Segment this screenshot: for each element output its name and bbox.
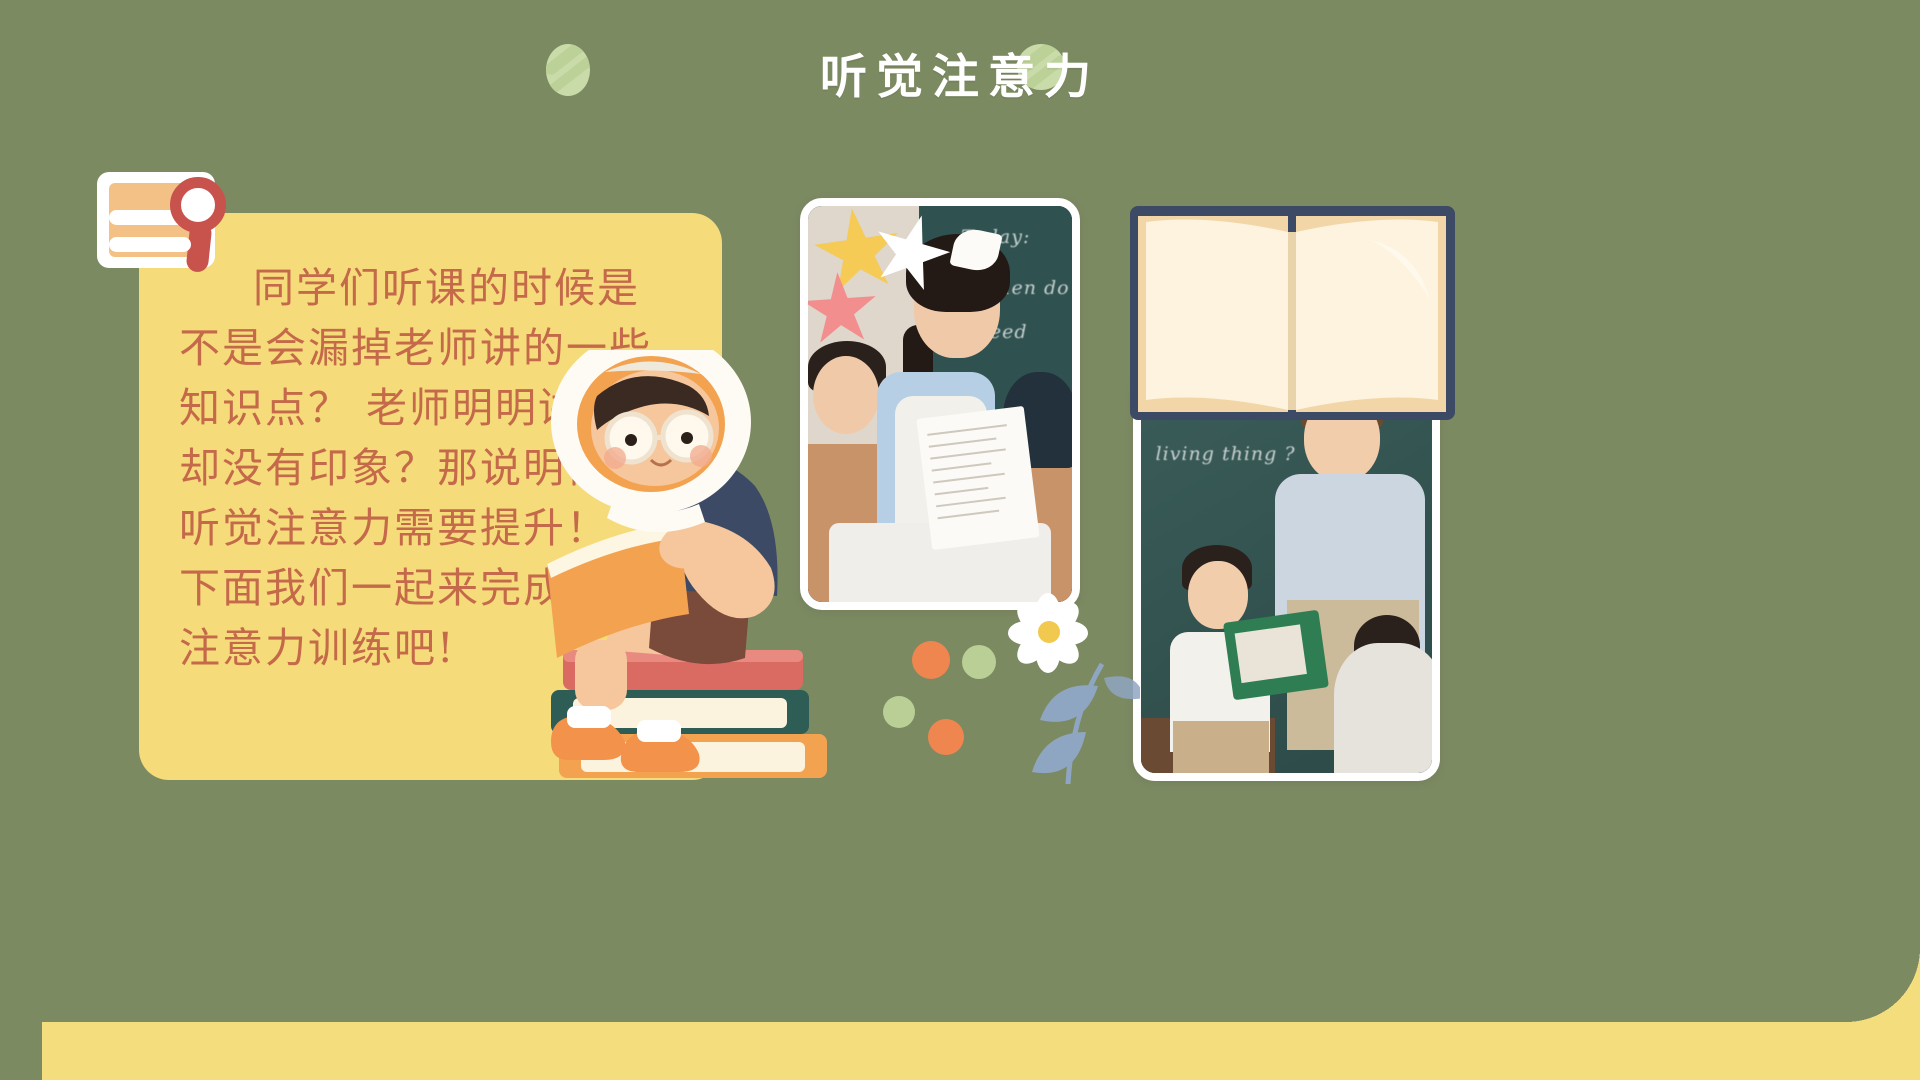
photo-textbook [1223,609,1329,700]
bottom-bar-left-notch [0,1022,42,1080]
slide-root: 听觉注意力 同学们听课的时候是不是会漏掉老师讲的一些知识点？ 老师明明讲过却没有… [0,0,1920,1080]
photo-student-face [1188,561,1248,629]
open-book-illustration [1120,200,1465,430]
boy-reading-illustration [455,350,875,790]
photo-teacher-class[interactable]: know if living thing ? [1133,372,1440,781]
photo-student-skirt [1173,721,1269,773]
flower-center [1038,621,1060,643]
document-icon-line-2 [109,237,191,252]
dot-decoration-green-2 [883,696,915,728]
search-icon [170,177,226,233]
leaf-sprig-decoration [1020,660,1140,790]
bottom-bar-right-curve [1846,948,1920,1022]
chalk-line-living: living thing ? [1156,443,1296,465]
dot-decoration-green-1 [962,645,996,679]
bottom-bar [0,1022,1920,1080]
page-title: 听觉注意力 [0,38,1920,107]
dot-decoration-orange-2 [928,719,964,755]
photo-foreground-kid [1334,643,1440,773]
photo-paper-sheet [917,406,1040,550]
dot-decoration-orange-1 [912,641,950,679]
